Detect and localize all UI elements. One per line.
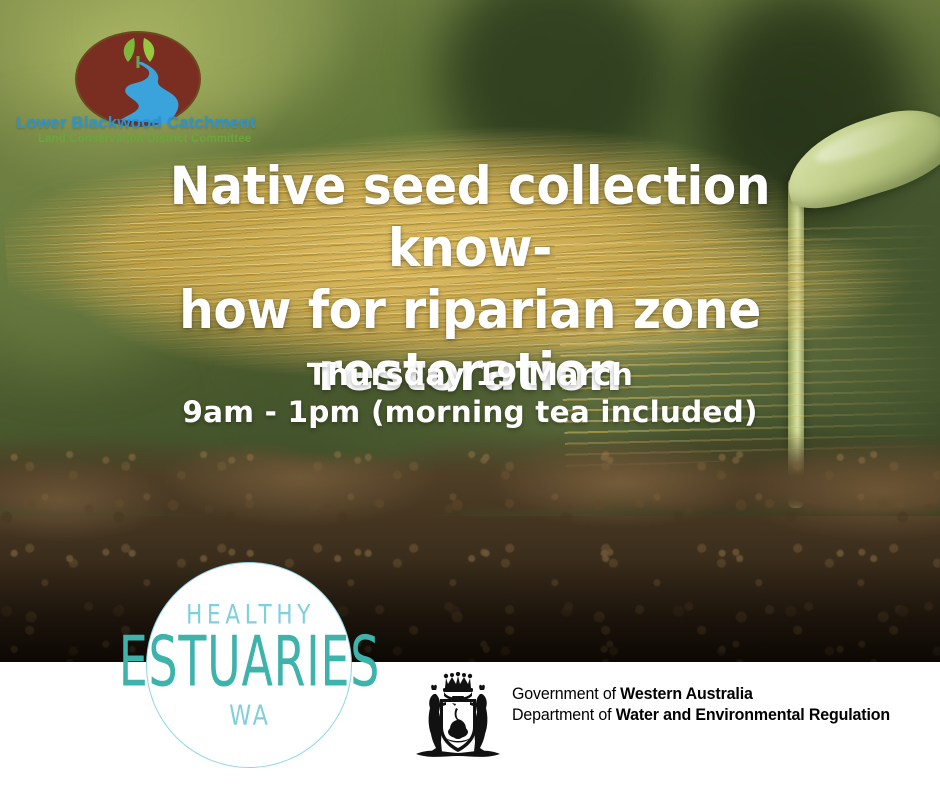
wa-government-text: Government of Western Australia Departme… — [512, 683, 912, 725]
western-australia-label: Western Australia — [620, 684, 753, 703]
wa-government-logo: Government of Western Australia Departme… — [408, 672, 908, 764]
lower-blackwood-subtitle: Land Conservation District Committee — [38, 133, 268, 145]
event-flyer-poster: Lower Blackwood Catchment Land Conservat… — [0, 0, 940, 788]
wa-state-coat-of-arms-icon — [408, 672, 508, 760]
title-line-1: Native seed collection know- — [93, 156, 847, 280]
gov-of-label: Government of — [512, 684, 620, 703]
department-of-label: Department of — [512, 705, 616, 724]
healthy-estuaries-line-2: ESTUARIES — [118, 627, 380, 696]
title-line-2: how for riparian zone — [93, 280, 847, 342]
wa-government-line-1: Government of Western Australia — [512, 683, 888, 704]
event-details: Thursday 19 March 9am - 1pm (morning tea… — [60, 358, 880, 430]
event-date: Thursday 19 March — [60, 358, 880, 394]
lower-blackwood-name: Lower Blackwood Catchment — [16, 113, 246, 133]
wa-government-line-2: Department of Water and Environmental Re… — [512, 704, 888, 725]
healthy-estuaries-wa-logo: HEALTHY ESTUARIES WA — [146, 562, 352, 768]
dwer-label: Water and Environmental Regulation — [616, 705, 890, 724]
event-time: 9am - 1pm (morning tea included) — [60, 394, 880, 430]
healthy-estuaries-line-3: WA — [227, 700, 271, 732]
